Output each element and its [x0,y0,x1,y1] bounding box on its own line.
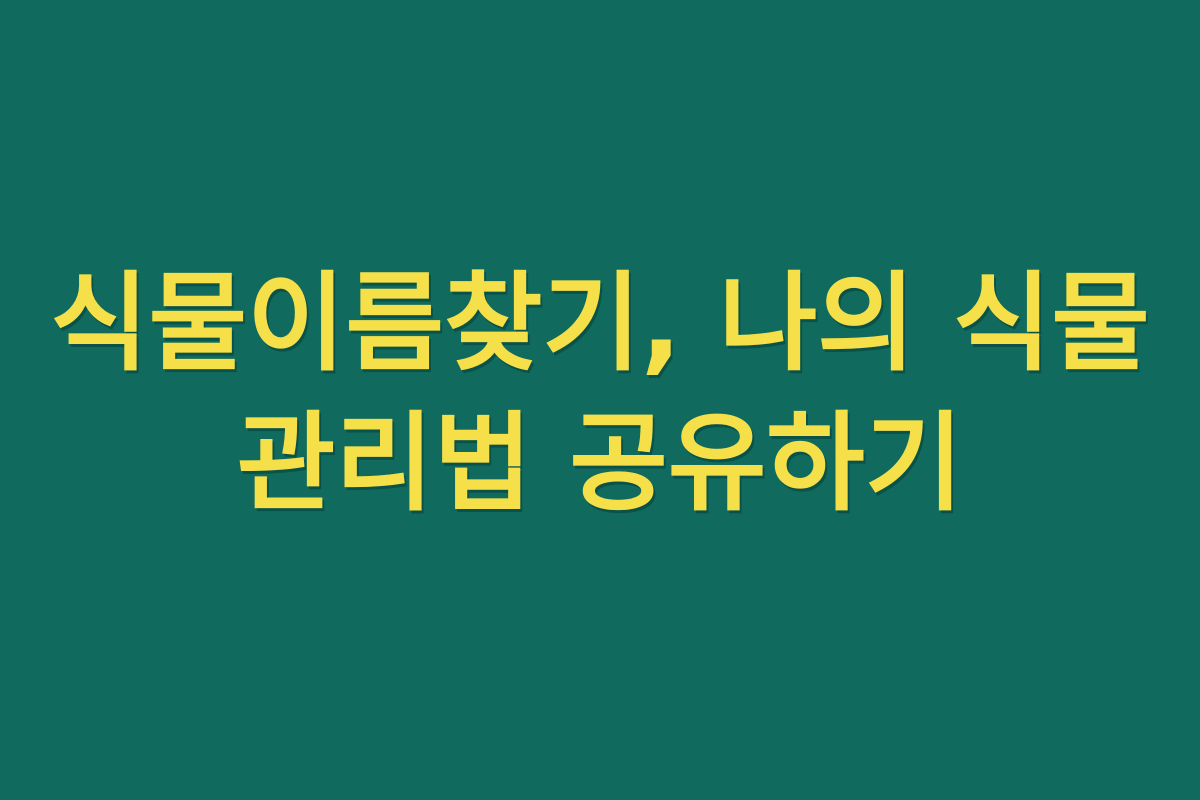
banner-title-line-2: 관리법 공유하기 [50,394,1150,534]
title-banner: 식물이름찾기, 나의 식물 관리법 공유하기 [0,0,1200,800]
banner-title-line-1: 식물이름찾기, 나의 식물 [50,254,1150,394]
banner-title-block: 식물이름찾기, 나의 식물 관리법 공유하기 [50,254,1150,546]
